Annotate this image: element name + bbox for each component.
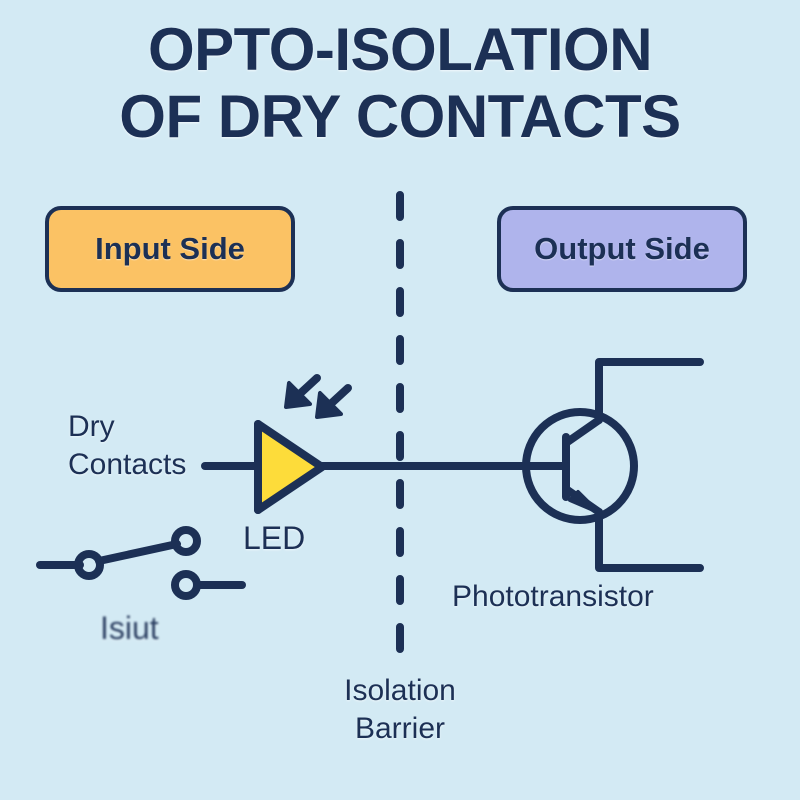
led-triangle [258,424,322,510]
led-emission-arrows [286,378,348,417]
phototransistor-collector-lead [599,362,700,420]
label-led: LED [243,518,305,558]
switch-1-contact-terminal [175,530,197,552]
switch-1-blade [99,544,177,561]
label-dry-contacts-line-1: Dry [68,408,186,446]
switch-1-pivot-terminal [78,554,100,576]
label-dry-contacts-line-2: Contacts [68,446,186,484]
phototransistor-collector-diagonal [566,420,599,443]
label-phototransistor: Phototransistor [452,578,654,616]
phototransistor-emitter-lead [599,512,700,568]
label-isolation-barrier-line-2: Barrier [255,710,545,748]
label-dry-contacts: Dry Contacts [68,408,186,483]
phototransistor-emitter-arrow [570,492,598,512]
diagram-canvas: OPTO-ISOLATION OF DRY CONTACTS Input Sid… [0,0,800,800]
label-isolation-barrier-line-1: Isolation [255,672,545,710]
label-isolation-barrier: Isolation Barrier [255,672,545,747]
label-input-blurred: Isiut [100,608,159,648]
